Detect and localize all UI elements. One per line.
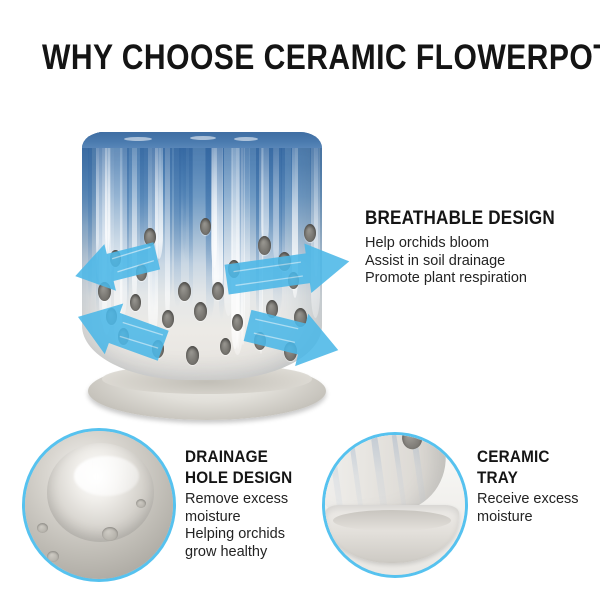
drainage-hole-inset-image [22, 428, 176, 582]
airflow-down-right-arrow [241, 300, 345, 375]
tray-dish-inner [333, 510, 451, 531]
feature-drainage-line-4: grow healthy [185, 544, 305, 562]
tray-drainage-hole [401, 432, 424, 451]
feature-tray: CERAMIC TRAY Receive excess moisture [477, 446, 592, 526]
feature-tray-line-2: moisture [477, 509, 592, 527]
airflow-down-left-arrow [69, 291, 172, 373]
feature-drainage-line-1: Remove excess [185, 491, 305, 509]
feature-breathable-heading: BREATHABLE DESIGN [365, 208, 572, 230]
feature-breathable-line-3: Promote plant respiration [365, 270, 595, 288]
page-title: WHY CHOOSE CERAMIC FLOWERPOTS [42, 38, 558, 78]
pot-base-photo [22, 428, 176, 582]
feature-drainage: DRAINAGE HOLE DESIGN Remove excess moist… [185, 446, 305, 561]
feature-drainage-heading: DRAINAGE HOLE DESIGN [185, 446, 293, 488]
feature-breathable-line-1: Help orchids bloom [365, 235, 595, 253]
feature-breathable: BREATHABLE DESIGN Help orchids bloom Ass… [365, 208, 595, 288]
base-drainage-nub-4 [136, 499, 146, 508]
feature-breathable-line-2: Assist in soil drainage [365, 253, 595, 271]
tray-dish [325, 505, 459, 563]
airflow-arrows [58, 100, 368, 415]
feature-tray-line-1: Receive excess [477, 491, 592, 509]
feature-tray-heading: CERAMIC TRAY [477, 446, 581, 488]
tray-photo [322, 432, 468, 578]
feature-drainage-line-3: Helping orchids [185, 526, 305, 544]
base-drainage-nub-2 [37, 523, 48, 533]
base-drainage-nub-1 [102, 527, 118, 541]
pot-base-glare [74, 456, 139, 496]
ceramic-tray-inset-image [322, 432, 468, 578]
feature-drainage-line-2: moisture [185, 509, 305, 527]
airflow-up-right-arrow [223, 238, 353, 305]
airflow-up-left-arrow [69, 233, 162, 300]
infographic-page: WHY CHOOSE CERAMIC FLOWERPOTS [0, 0, 600, 600]
base-drainage-nub-3 [47, 551, 59, 562]
hero-product-image [58, 100, 368, 415]
